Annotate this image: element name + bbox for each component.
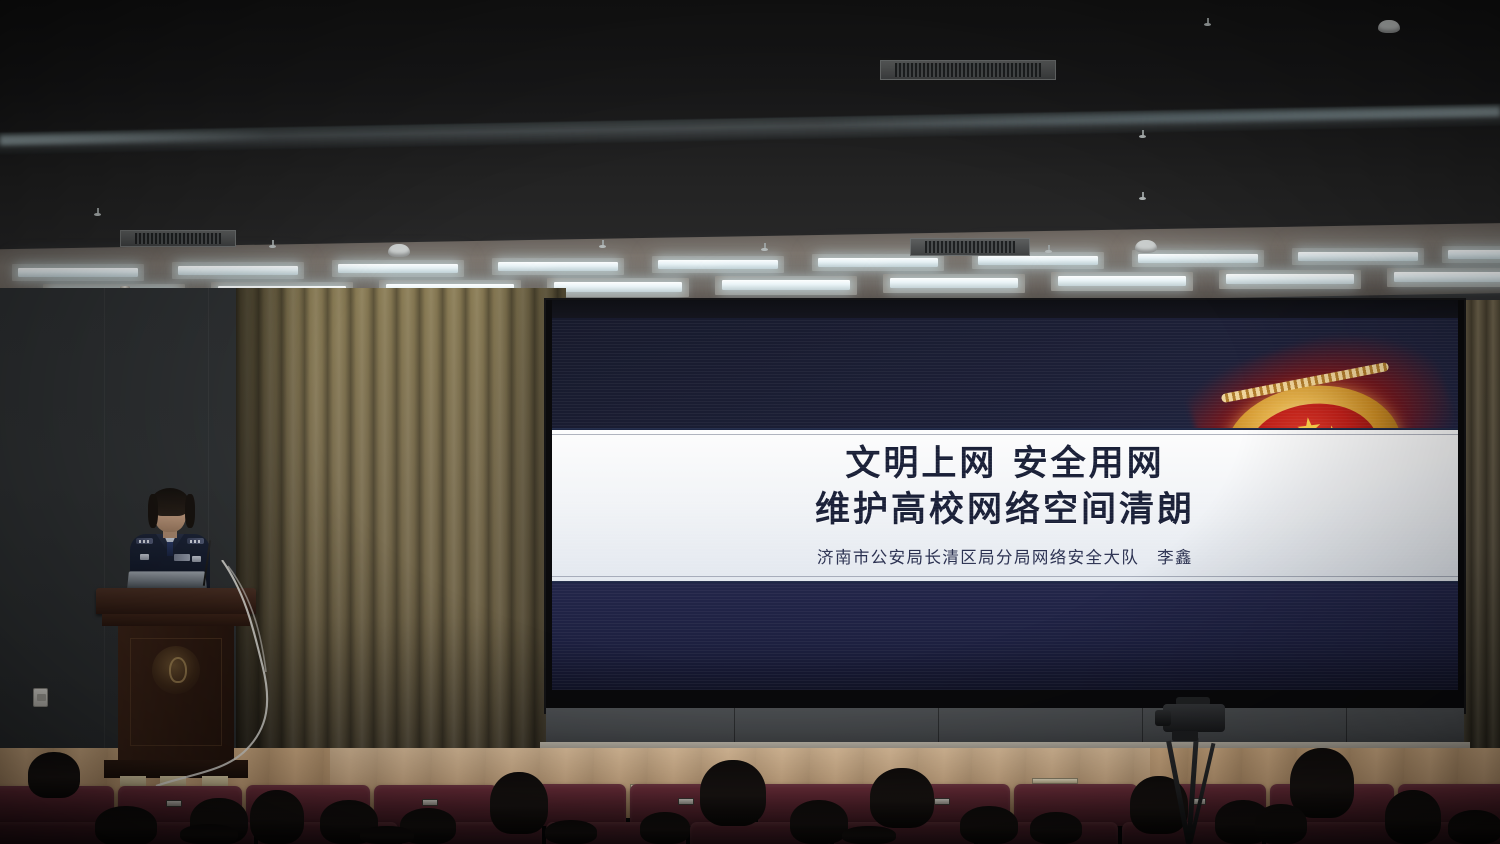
sprinkler-head-icon xyxy=(1046,245,1051,254)
ceiling-light xyxy=(498,262,618,271)
vent-grille xyxy=(925,241,1015,253)
seat-number-plate xyxy=(934,798,950,805)
led-screen-top-bezel xyxy=(552,300,1458,320)
smoke-detector-icon xyxy=(1135,240,1157,253)
slide-subtitle: 济南市公安局长清区局分局网络安全大队 李鑫 xyxy=(552,544,1458,568)
smoke-detector-icon xyxy=(1378,20,1400,33)
ceiling-light xyxy=(338,264,458,273)
sprinkler-head-icon xyxy=(1205,18,1210,27)
sprinkler-head-icon xyxy=(95,208,100,217)
ceiling-light xyxy=(1138,254,1258,263)
audience-member xyxy=(95,806,157,844)
audience-member xyxy=(545,820,597,844)
audience-member xyxy=(360,826,414,844)
ceiling-light xyxy=(1298,252,1418,261)
ceiling-light xyxy=(818,258,938,267)
seat-number-plate xyxy=(422,799,438,806)
audience-member xyxy=(250,790,304,844)
audience-member xyxy=(1448,810,1500,844)
audience-member xyxy=(1030,812,1082,844)
sprinkler-head-icon xyxy=(762,243,767,252)
smoke-detector-icon xyxy=(388,244,410,257)
ceiling-light xyxy=(1394,272,1500,282)
vent-grille xyxy=(135,233,221,244)
ceiling-light xyxy=(1058,276,1186,286)
audience-member xyxy=(180,824,238,844)
audience-member xyxy=(1290,748,1354,818)
audience-member xyxy=(960,806,1018,844)
air-conditioning-vent-icon xyxy=(120,230,236,247)
slide-title-line2: 维护高校网络空间清朗 xyxy=(552,488,1458,534)
led-screen: 文明上网 安全用网 维护高校网络空间清朗 济南市公安局长清区局分局网络安全大队 … xyxy=(552,318,1458,690)
auditorium-scene: 文明上网 安全用网 维护高校网络空间清朗 济南市公安局长清区局分局网络安全大队 … xyxy=(0,0,1500,844)
seat-number-plate xyxy=(166,800,182,807)
sprinkler-head-icon xyxy=(600,240,605,249)
vent-grille xyxy=(895,63,1041,77)
ceiling-light xyxy=(658,260,778,269)
air-conditioning-vent-icon xyxy=(880,60,1056,80)
slide-title-line1: 文明上网 安全用网 xyxy=(552,442,1458,488)
ceiling-light xyxy=(1448,250,1500,259)
audience-member xyxy=(28,752,80,798)
audience-member xyxy=(640,812,690,844)
video-camera-icon xyxy=(1163,704,1225,732)
ceiling-light xyxy=(1226,274,1354,284)
wall-power-outlet[interactable] xyxy=(33,688,48,707)
ceiling-light xyxy=(554,282,682,292)
audience-member xyxy=(1385,790,1441,844)
seat[interactable] xyxy=(0,822,110,844)
stage-base-wall xyxy=(546,708,1464,746)
ceiling-light xyxy=(978,256,1098,265)
slide-content-band: 文明上网 安全用网 维护高校网络空间清朗 济南市公安局长清区局分局网络安全大队 … xyxy=(552,428,1458,583)
audience-member xyxy=(1255,804,1307,844)
sprinkler-head-icon xyxy=(270,240,275,249)
ceiling-light xyxy=(722,280,850,290)
university-crest-icon xyxy=(152,646,200,694)
podium-laptop xyxy=(127,571,207,589)
podium xyxy=(96,588,256,784)
camera-mount-plate xyxy=(1172,731,1198,741)
camera-lens-icon xyxy=(1155,710,1171,726)
ceiling-light xyxy=(890,278,1018,288)
slide-lower-background xyxy=(552,583,1458,690)
audience-member xyxy=(870,768,934,828)
audience-member xyxy=(790,800,848,844)
ceiling-light xyxy=(18,268,138,277)
sprinkler-head-icon xyxy=(1140,130,1145,139)
air-conditioning-vent-icon xyxy=(910,238,1030,256)
audience-member xyxy=(700,760,766,826)
sprinkler-head-icon xyxy=(1140,192,1145,201)
audience-member xyxy=(842,826,896,844)
seat-number-plate xyxy=(678,798,694,805)
audience-member xyxy=(490,772,548,834)
ceiling-light xyxy=(178,266,298,275)
